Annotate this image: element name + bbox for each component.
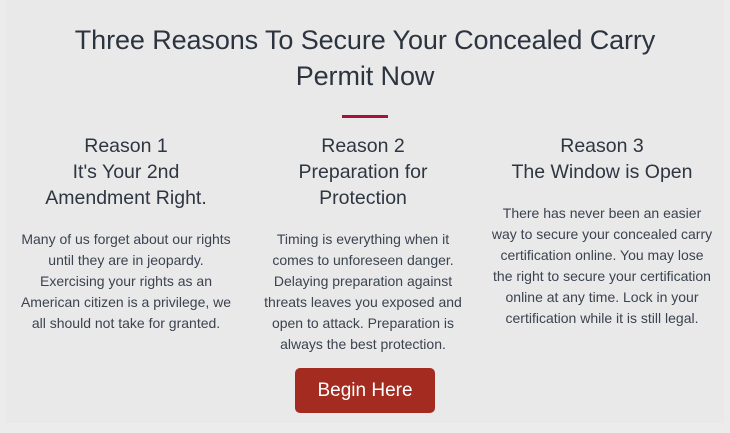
landing-section: Three Reasons To Secure Your Concealed C… bbox=[0, 0, 730, 433]
reason-3-heading: Reason 3 The Window is Open bbox=[486, 133, 718, 185]
bottom-gutter bbox=[0, 423, 730, 433]
reason-1-heading-line-2: It's Your 2nd bbox=[73, 161, 180, 183]
page-title: Three Reasons To Secure Your Concealed C… bbox=[0, 22, 730, 94]
reason-1-heading-line-3: Amendment Right. bbox=[45, 187, 207, 209]
hero-block: Three Reasons To Secure Your Concealed C… bbox=[0, 22, 730, 118]
reason-2-heading-line-3: Protection bbox=[319, 187, 407, 209]
cta-container: Begin Here bbox=[0, 368, 730, 413]
reason-1-body: Many of us forget about our rights until… bbox=[12, 229, 240, 334]
reason-1-heading: Reason 1 It's Your 2nd Amendment Right. bbox=[12, 133, 240, 211]
reason-2-heading-line-1: Reason 2 bbox=[321, 135, 404, 157]
title-divider bbox=[342, 115, 388, 118]
reason-2-heading: Reason 2 Preparation for Protection bbox=[249, 133, 477, 211]
begin-here-button[interactable]: Begin Here bbox=[295, 368, 434, 413]
reason-column-2: Reason 2 Preparation for Protection Timi… bbox=[249, 133, 477, 355]
reason-3-heading-line-2: The Window is Open bbox=[512, 161, 693, 183]
reason-2-body: Timing is everything when it comes to un… bbox=[249, 229, 477, 355]
reason-3-body: There has never been an easier way to se… bbox=[486, 203, 718, 329]
reasons-columns: Reason 1 It's Your 2nd Amendment Right. … bbox=[0, 133, 730, 355]
reason-column-1: Reason 1 It's Your 2nd Amendment Right. … bbox=[12, 133, 240, 334]
reason-3-heading-line-1: Reason 3 bbox=[560, 135, 643, 157]
reason-2-heading-line-2: Preparation for bbox=[299, 161, 428, 183]
reason-column-3: Reason 3 The Window is Open There has ne… bbox=[486, 133, 718, 329]
reason-1-heading-line-1: Reason 1 bbox=[84, 135, 167, 157]
